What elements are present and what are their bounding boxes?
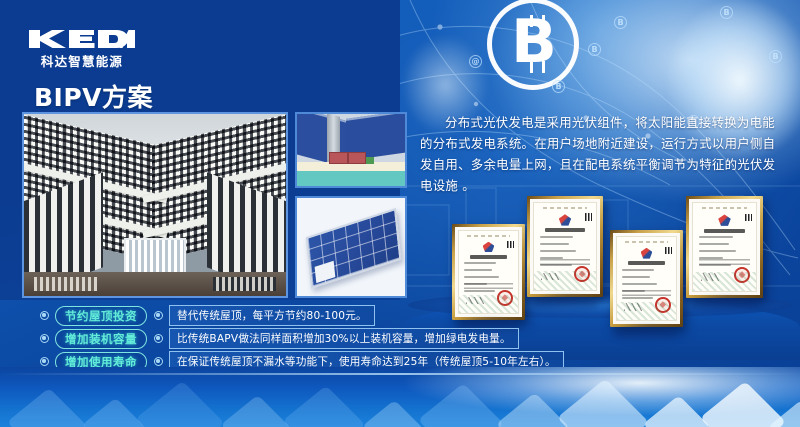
feature-list: 节约屋顶投资 替代传统屋顶，每平方节约80-100元。 增加装机容量 比传统BA… — [0, 304, 440, 373]
bullet-icon — [40, 357, 49, 366]
bullet-icon — [154, 334, 163, 343]
atrium-skylight-photo — [22, 112, 288, 298]
bitcoin-logo-icon: B — [487, 0, 579, 90]
brand-logo-chinese: 科达智慧能源 — [28, 51, 136, 70]
feature-tag: 节约屋顶投资 — [55, 306, 147, 326]
certificate-frame — [527, 196, 603, 297]
bullet-icon — [154, 357, 163, 366]
poster-canvas: B B B B B B @ B — [0, 0, 800, 427]
bottom-decorative-band — [0, 367, 800, 427]
certificate-frame — [452, 224, 525, 320]
bitcoin-node-icon: B — [769, 50, 782, 63]
feature-tag: 增加装机容量 — [55, 329, 147, 349]
at-node-icon: @ — [469, 55, 482, 68]
bitcoin-node-icon: B — [552, 80, 565, 93]
brand-logo: 科达智慧能源 — [28, 28, 136, 70]
bitcoin-node-icon: B — [588, 43, 601, 56]
certificate-frame — [686, 196, 763, 298]
keda-logo-icon — [28, 28, 136, 50]
page-title: BIPV方案 — [34, 78, 153, 114]
pv-panel-array-render — [295, 196, 407, 298]
feature-row: 增加装机容量 比传统BAPV做法同样面积增加30%以上装机容量，增加绿电发电量。 — [0, 327, 440, 350]
bullet-icon — [40, 334, 49, 343]
feature-description: 替代传统屋顶，每平方节约80-100元。 — [169, 305, 375, 326]
certificate-frame — [610, 230, 683, 327]
feature-description: 比传统BAPV做法同样面积增加30%以上装机容量，增加绿电发电量。 — [169, 328, 519, 349]
feature-row: 节约屋顶投资 替代传统屋顶，每平方节约80-100元。 — [0, 304, 440, 327]
intro-paragraph: 分布式光伏发电是采用光伏组件，将太阳能直接转换为电能的分布式发电系统。在用户场地… — [420, 112, 786, 196]
bitcoin-node-icon: B — [720, 6, 733, 19]
bullet-icon — [40, 311, 49, 320]
bullet-icon — [154, 311, 163, 320]
pv-mounting-detail-render — [295, 112, 407, 188]
bitcoin-node-icon: B — [614, 16, 627, 29]
